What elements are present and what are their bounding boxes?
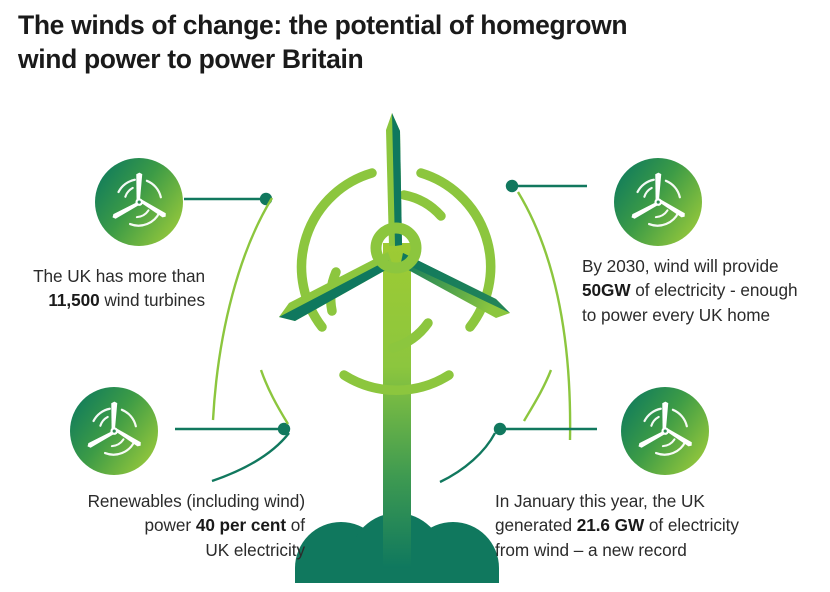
stat-value: 40 per cent (196, 515, 286, 535)
stat-text-part: In January this year, the UK (495, 491, 705, 511)
stat-text-part: of electricity - enough (631, 280, 798, 300)
stat-text-part: Renewables (including wind) (88, 491, 305, 511)
stat-text-part: wind turbines (100, 290, 205, 310)
stat-line: In January this year, the UK (495, 489, 795, 513)
stat-line: The UK has more than (0, 264, 205, 288)
connector-dot-top-right (506, 180, 518, 192)
connector-top-right (506, 180, 587, 440)
stat-value: 21.6 GW (577, 515, 644, 535)
infographic-canvas: The winds of change: the potential of ho… (0, 0, 830, 592)
stat-text-uk-turbines: The UK has more than11,500 wind turbines (0, 264, 205, 313)
stat-text-part: to power every UK home (582, 305, 770, 325)
stat-line: Renewables (including wind) (10, 489, 305, 513)
stat-text-renewables-share: Renewables (including wind)power 40 per … (10, 489, 305, 562)
stat-text-january-record: In January this year, the UKgenerated 21… (495, 489, 795, 562)
stat-text-part: from wind – a new record (495, 540, 687, 560)
connector-bottom-left (175, 370, 290, 481)
turbine-tower (383, 243, 411, 568)
stat-line: from wind – a new record (495, 538, 795, 562)
stat-text-part: By 2030, wind will provide (582, 256, 778, 276)
stat-value: 50GW (582, 280, 631, 300)
stat-text-part: power (145, 515, 196, 535)
stat-text-part: of electricity (644, 515, 739, 535)
connector-dot-bottom-right (494, 423, 506, 435)
stat-line: 50GW of electricity - enough (582, 278, 830, 302)
stat-icon-january-record[interactable] (621, 387, 709, 475)
stat-text-part: of (286, 515, 305, 535)
stat-value: 11,500 (48, 290, 99, 310)
stat-line: UK electricity (10, 538, 305, 562)
stat-line: generated 21.6 GW of electricity (495, 513, 795, 537)
stat-text-part: The UK has more than (33, 266, 205, 286)
stat-text-part: UK electricity (205, 540, 305, 560)
stat-text-part: generated (495, 515, 577, 535)
stat-icon-wind-2030[interactable] (614, 158, 702, 246)
stat-icon-uk-turbines[interactable] (95, 158, 183, 246)
stat-line: 11,500 wind turbines (0, 288, 205, 312)
connector-bottom-right (440, 370, 597, 482)
stat-icon-renewables-share[interactable] (70, 387, 158, 475)
stat-line: power 40 per cent of (10, 513, 305, 537)
stat-line: to power every UK home (582, 303, 830, 327)
stat-text-wind-2030: By 2030, wind will provide50GW of electr… (582, 254, 830, 327)
wind-turbine-illustration (279, 113, 510, 583)
stat-line: By 2030, wind will provide (582, 254, 830, 278)
